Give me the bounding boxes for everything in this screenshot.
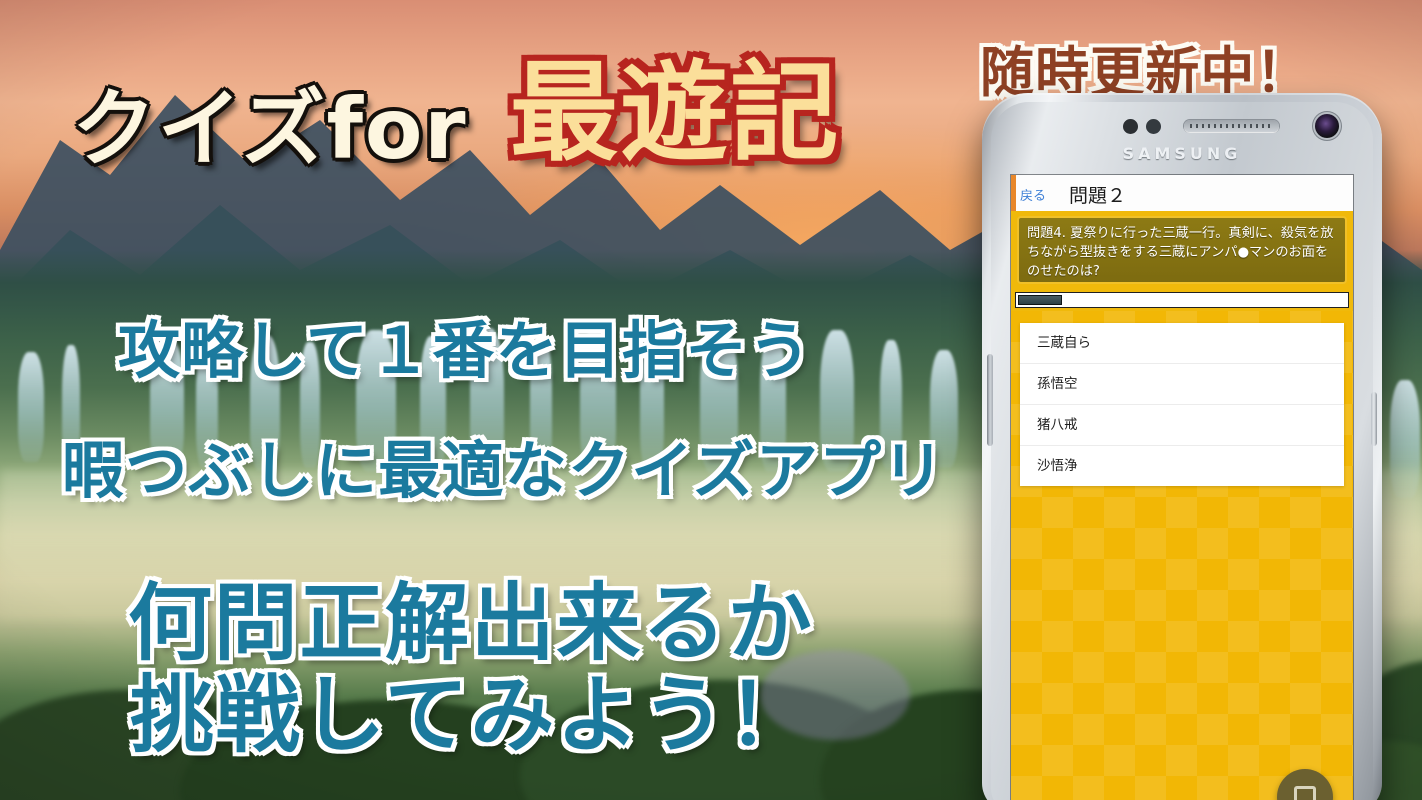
volume-button[interactable] <box>987 354 993 446</box>
power-button[interactable] <box>1371 392 1377 446</box>
device-brand-label: SAMSUNG <box>991 144 1373 163</box>
phone-top-bezel: SAMSUNG <box>991 102 1373 175</box>
front-camera-icon <box>1315 114 1339 138</box>
answer-list: 三蔵自ら 孫悟空 猪八戒 沙悟浄 <box>1020 323 1344 486</box>
answer-option-4[interactable]: 沙悟浄 <box>1020 446 1344 486</box>
progress-bar <box>1015 292 1349 308</box>
progress-bar-fill <box>1018 295 1062 305</box>
app-navbar: 戻る 問題２ <box>1011 175 1353 212</box>
tagline-2: 暇つぶしに最適なクイズアプリ <box>62 420 946 510</box>
page-title: 問題２ <box>1069 181 1126 208</box>
earpiece-speaker-icon <box>1184 120 1279 132</box>
progress-area <box>1011 289 1353 311</box>
phone-mockup: SAMSUNG 戻る 問題２ 問題4. 夏祭りに行った三蔵一行。真剣に、殺気を放… <box>982 93 1382 800</box>
phone-body: SAMSUNG 戻る 問題２ 問題4. 夏祭りに行った三蔵一行。真剣に、殺気を放… <box>991 102 1373 800</box>
question-text: 問題4. 夏祭りに行った三蔵一行。真剣に、殺気を放ちながら型抜きをする三蔵にアン… <box>1017 216 1347 284</box>
light-sensor-icon <box>1146 119 1161 134</box>
question-area: 問題4. 夏祭りに行った三蔵一行。真剣に、殺気を放ちながら型抜きをする三蔵にアン… <box>1011 211 1353 289</box>
promo-banner: クイズfor 最遊記 随時更新中！ 攻略して１番を目指そう 暇つぶしに最適なクイ… <box>0 0 1422 800</box>
app-title-main: クイズfor <box>72 62 467 183</box>
screen-edge-accent <box>1011 175 1016 211</box>
app-screen: 戻る 問題２ 問題4. 夏祭りに行った三蔵一行。真剣に、殺気を放ちながら型抜きを… <box>1011 175 1353 800</box>
tagline-1: 攻略して１番を目指そう <box>118 300 812 390</box>
answer-option-1[interactable]: 三蔵自ら <box>1020 323 1344 364</box>
proximity-sensor-icon <box>1123 119 1138 134</box>
app-title-series: 最遊記 <box>510 26 840 182</box>
back-button[interactable]: 戻る <box>1020 185 1046 204</box>
stop-square-icon <box>1294 786 1316 800</box>
tagline-4: 挑戦してみよう！ <box>130 648 813 769</box>
answer-option-3[interactable]: 猪八戒 <box>1020 405 1344 446</box>
answer-option-2[interactable]: 孫悟空 <box>1020 364 1344 405</box>
